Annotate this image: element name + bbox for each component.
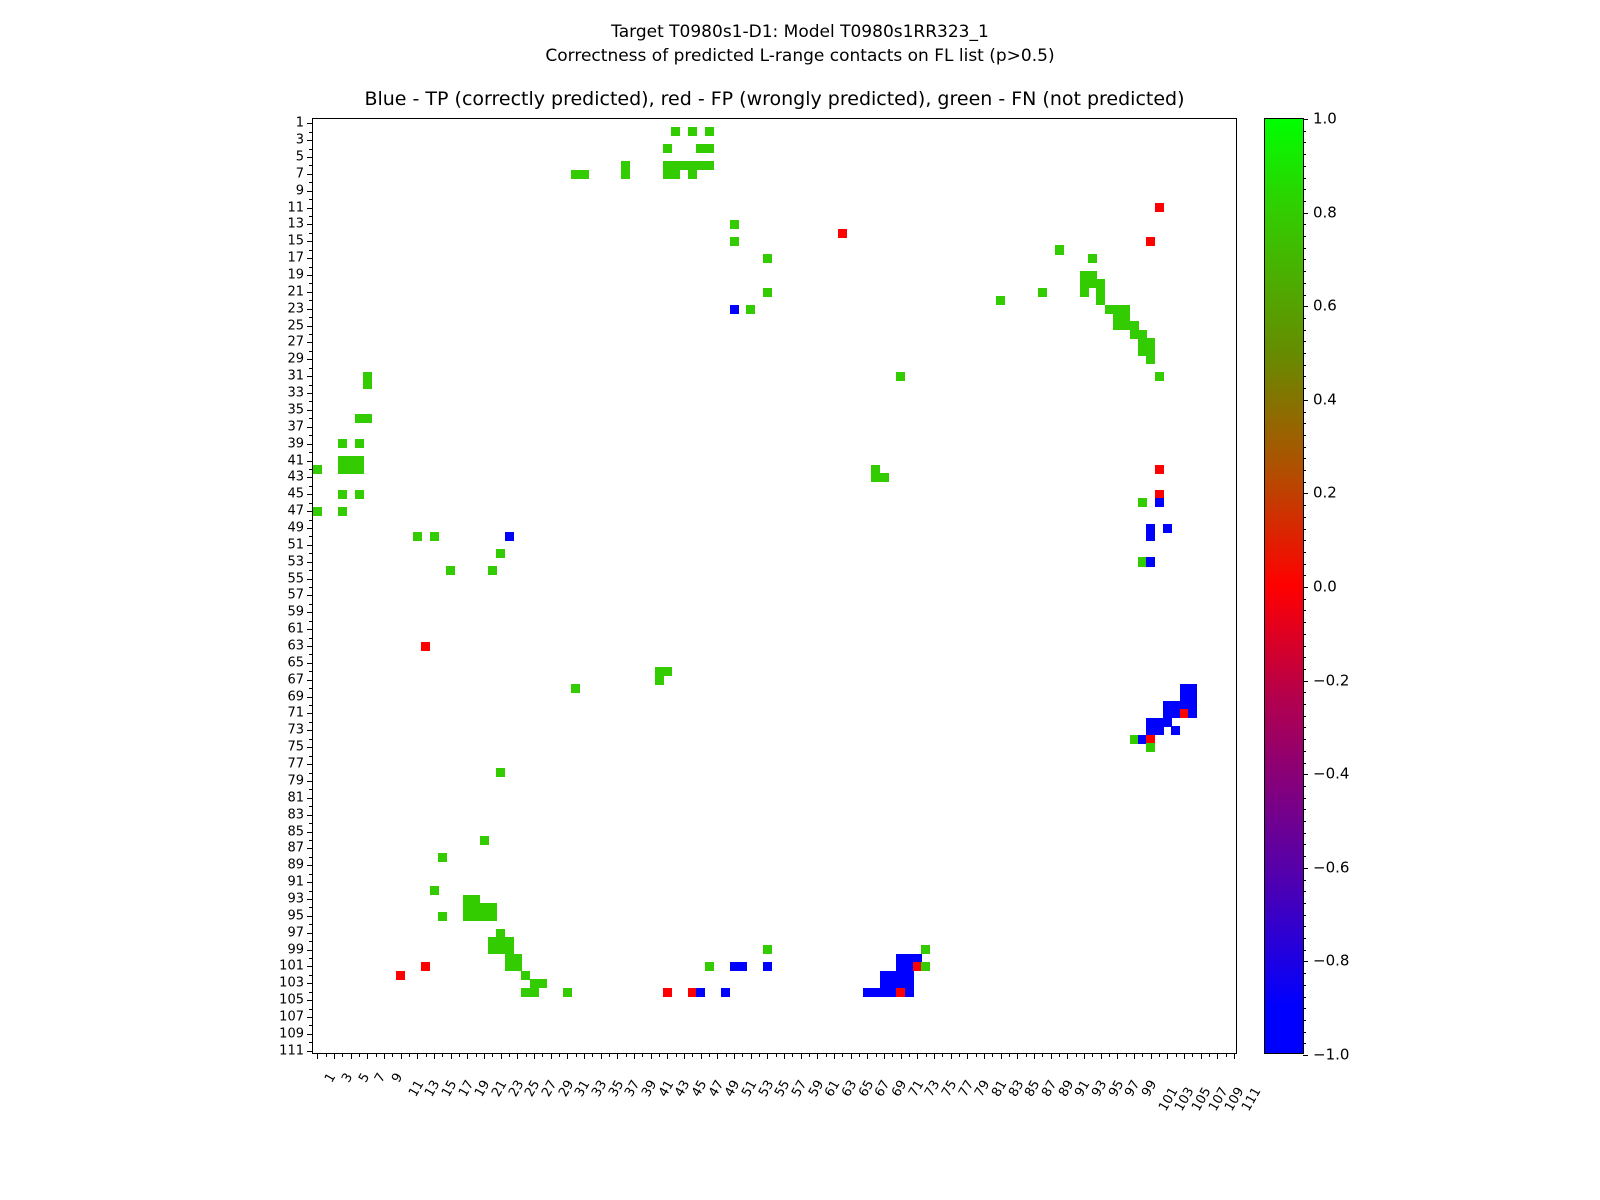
colorbar-minor-tick	[1303, 178, 1306, 179]
y-tick-label: 33	[287, 387, 304, 400]
x-tick	[1076, 1053, 1077, 1057]
y-tick	[309, 317, 313, 318]
y-tick	[307, 815, 313, 816]
contact-cell	[1155, 372, 1164, 381]
contact-cell	[921, 962, 930, 971]
x-tick	[559, 1053, 560, 1057]
x-tick	[1017, 1053, 1018, 1059]
y-tick-label: 21	[287, 285, 304, 298]
contact-cell	[1171, 726, 1180, 735]
contact-cell	[1188, 709, 1197, 718]
y-tick-label: 11	[287, 201, 304, 214]
x-tick	[467, 1053, 468, 1059]
x-tick	[967, 1053, 968, 1059]
y-tick-label: 43	[287, 471, 304, 484]
x-tick	[567, 1053, 568, 1059]
y-tick	[307, 798, 313, 799]
y-tick	[307, 983, 313, 984]
y-tick-label: 53	[287, 555, 304, 568]
y-tick	[307, 832, 313, 833]
colorbar-minor-tick	[1303, 1043, 1306, 1044]
contact-cell	[488, 912, 497, 921]
x-tick	[651, 1053, 652, 1059]
y-tick	[309, 267, 313, 268]
contact-cell	[763, 288, 772, 297]
colorbar-minor-tick	[1303, 131, 1306, 132]
x-tick	[601, 1053, 602, 1059]
x-tick	[684, 1053, 685, 1059]
x-tick	[926, 1053, 927, 1057]
colorbar-minor-tick	[1303, 470, 1306, 471]
y-tick-label: 15	[287, 235, 304, 248]
colorbar-minor-tick	[1303, 657, 1306, 658]
colorbar-minor-tick	[1303, 833, 1306, 834]
contact-cell	[1155, 465, 1164, 474]
y-tick	[309, 385, 313, 386]
x-tick	[1201, 1053, 1202, 1059]
colorbar-minor-tick	[1303, 856, 1306, 857]
contact-cell	[338, 490, 347, 499]
x-tick-label: 15	[440, 1078, 460, 1099]
x-tick	[826, 1053, 827, 1057]
y-tick-label: 83	[287, 808, 304, 821]
x-tick	[1067, 1053, 1068, 1059]
colorbar-minor-tick	[1303, 517, 1306, 518]
y-tick	[307, 730, 313, 731]
colorbar-minor-tick	[1303, 739, 1306, 740]
y-tick	[307, 950, 313, 951]
y-tick-label: 49	[287, 521, 304, 534]
y-tick	[309, 891, 313, 892]
y-tick	[307, 410, 313, 411]
y-tick-label: 5	[296, 150, 304, 163]
y-tick	[307, 1000, 313, 1001]
x-tick	[776, 1053, 777, 1057]
contact-cell	[355, 490, 364, 499]
axes-title-legend: Blue - TP (correctly predicted), red - F…	[312, 88, 1237, 110]
x-tick	[476, 1053, 477, 1057]
y-tick-label: 9	[296, 184, 304, 197]
colorbar-minor-tick	[1303, 154, 1306, 155]
x-tick	[792, 1053, 793, 1057]
colorbar-tick-label: 0.6	[1313, 299, 1337, 314]
x-tick-label: 7	[373, 1071, 388, 1085]
x-tick	[392, 1053, 393, 1057]
x-tick	[384, 1053, 385, 1059]
x-tick-label: 99	[1140, 1078, 1160, 1099]
x-tick	[934, 1053, 935, 1059]
x-tick	[501, 1053, 502, 1059]
contact-cell	[721, 988, 730, 997]
contact-cell	[496, 768, 505, 777]
x-tick	[1117, 1053, 1118, 1059]
y-tick-label: 61	[287, 623, 304, 636]
colorbar-minor-tick	[1303, 950, 1306, 951]
y-tick	[307, 1034, 313, 1035]
colorbar-minor-tick	[1303, 564, 1306, 565]
y-tick	[309, 756, 313, 757]
contact-cell	[1138, 498, 1147, 507]
contact-cell	[1155, 203, 1164, 212]
y-tick-label: 107	[279, 1011, 304, 1024]
y-tick-label: 87	[287, 842, 304, 855]
x-tick-label: 3	[340, 1071, 355, 1085]
y-tick	[307, 494, 313, 495]
x-tick	[434, 1053, 435, 1059]
colorbar-minor-tick	[1303, 142, 1306, 143]
colorbar-tick-label: −0.8	[1313, 954, 1349, 969]
contact-cell	[538, 979, 547, 988]
x-tick	[542, 1053, 543, 1057]
colorbar-minor-tick	[1303, 189, 1306, 190]
y-tick	[309, 857, 313, 858]
y-tick	[309, 503, 313, 504]
colorbar-minor-tick	[1303, 809, 1306, 810]
contact-cell	[663, 144, 672, 153]
y-tick-label: 1	[296, 117, 304, 130]
x-tick	[909, 1053, 910, 1057]
y-tick	[309, 924, 313, 925]
y-tick	[307, 933, 313, 934]
y-tick-label: 91	[287, 876, 304, 889]
colorbar-minor-tick	[1303, 447, 1306, 448]
colorbar-minor-tick	[1303, 318, 1306, 319]
contact-cell	[563, 988, 572, 997]
colorbar-minor-tick	[1303, 259, 1306, 260]
x-tick	[342, 1053, 343, 1057]
x-tick-label: 1	[323, 1071, 338, 1085]
y-tick-label: 105	[279, 994, 304, 1007]
x-tick	[1092, 1053, 1093, 1057]
x-tick	[801, 1053, 802, 1059]
x-tick	[1001, 1053, 1002, 1059]
x-tick	[842, 1053, 843, 1057]
colorbar-minor-tick	[1303, 423, 1306, 424]
y-tick	[307, 511, 313, 512]
y-tick-label: 77	[287, 758, 304, 771]
colorbar-minor-tick	[1303, 634, 1306, 635]
colorbar-minor-tick	[1303, 236, 1306, 237]
x-tick	[484, 1053, 485, 1059]
y-tick	[307, 241, 313, 242]
colorbar-minor-tick	[1303, 891, 1306, 892]
y-tick-label: 69	[287, 690, 304, 703]
x-tick	[1226, 1053, 1227, 1057]
y-tick	[309, 132, 313, 133]
x-tick	[359, 1053, 360, 1057]
x-tick	[592, 1053, 593, 1057]
contact-cell	[396, 971, 405, 980]
y-tick	[307, 224, 313, 225]
x-tick	[326, 1053, 327, 1057]
x-tick	[617, 1053, 618, 1059]
y-tick	[309, 469, 313, 470]
y-tick	[307, 292, 313, 293]
colorbar-tick-label: 0.0	[1313, 580, 1337, 595]
colorbar-minor-tick	[1303, 669, 1306, 670]
contact-cell	[1088, 254, 1097, 263]
colorbar-minor-tick	[1303, 610, 1306, 611]
contact-cell	[705, 144, 714, 153]
contact-cell	[688, 170, 697, 179]
x-tick	[1134, 1053, 1135, 1059]
y-tick	[309, 570, 313, 571]
x-tick	[351, 1053, 352, 1059]
colorbar-minor-tick	[1303, 716, 1306, 717]
y-tick	[307, 427, 313, 428]
colorbar-minor-tick	[1303, 844, 1306, 845]
y-tick	[309, 486, 313, 487]
y-tick-label: 13	[287, 218, 304, 231]
y-tick-label: 73	[287, 724, 304, 737]
colorbar-tick-label: −0.4	[1313, 767, 1349, 782]
y-tick	[307, 461, 313, 462]
x-tick	[667, 1053, 668, 1059]
x-tick	[692, 1053, 693, 1057]
x-tick-label: 9	[390, 1071, 405, 1085]
y-tick	[309, 300, 313, 301]
x-tick-label: 69	[890, 1078, 910, 1099]
y-tick	[309, 199, 313, 200]
contact-cell	[355, 439, 364, 448]
x-tick	[717, 1053, 718, 1059]
x-tick	[509, 1053, 510, 1057]
x-tick	[1101, 1053, 1102, 1059]
contact-cell	[696, 988, 705, 997]
contact-cell	[921, 945, 930, 954]
colorbar-minor-tick	[1303, 166, 1306, 167]
x-tick	[1026, 1053, 1027, 1057]
x-tick	[642, 1053, 643, 1057]
y-tick	[307, 966, 313, 967]
contact-cell	[1146, 743, 1155, 752]
x-tick	[992, 1053, 993, 1057]
colorbar-tick-label: −0.2	[1313, 673, 1349, 688]
colorbar-minor-tick	[1303, 365, 1306, 366]
y-tick-label: 75	[287, 741, 304, 754]
colorbar-minor-tick	[1303, 376, 1306, 377]
x-tick	[959, 1053, 960, 1057]
x-tick	[984, 1053, 985, 1059]
colorbar-minor-tick	[1303, 493, 1306, 494]
y-tick	[307, 545, 313, 546]
y-tick	[307, 342, 313, 343]
x-tick-label: 51	[740, 1078, 760, 1099]
x-tick	[1159, 1053, 1160, 1057]
contact-cell	[671, 127, 680, 136]
contact-map-plot-area[interactable]: 1357911131517192123252729313335373941434…	[312, 118, 1237, 1054]
y-tick-label: 7	[296, 167, 304, 180]
contact-cell	[438, 853, 447, 862]
contact-cell	[488, 566, 497, 575]
x-tick	[451, 1053, 452, 1059]
contact-cell	[1146, 237, 1155, 246]
colorbar-minor-tick	[1303, 961, 1306, 962]
contact-cell	[346, 465, 355, 474]
colorbar-minor-tick	[1303, 646, 1306, 647]
y-tick	[309, 149, 313, 150]
contact-cell	[338, 439, 347, 448]
y-tick-label: 79	[287, 774, 304, 787]
x-tick-label: 5	[357, 1071, 372, 1085]
y-tick-label: 29	[287, 353, 304, 366]
colorbar-minor-tick	[1303, 786, 1306, 787]
x-tick	[367, 1053, 368, 1059]
y-tick	[309, 401, 313, 402]
contact-cell	[705, 161, 714, 170]
x-tick	[634, 1053, 635, 1059]
contact-cell	[896, 372, 905, 381]
x-tick	[492, 1053, 493, 1057]
x-tick	[1176, 1053, 1177, 1057]
y-tick-label: 27	[287, 336, 304, 349]
colorbar-minor-tick	[1303, 248, 1306, 249]
y-tick	[309, 907, 313, 908]
colorbar-minor-tick	[1303, 774, 1306, 775]
colorbar-minor-tick	[1303, 1055, 1306, 1056]
contact-cell	[313, 507, 322, 516]
contact-cell	[621, 170, 630, 179]
x-tick-label: 33	[590, 1078, 610, 1099]
x-tick	[1059, 1053, 1060, 1057]
y-tick	[309, 233, 313, 234]
y-tick	[309, 773, 313, 774]
x-tick	[901, 1053, 902, 1059]
x-tick	[859, 1053, 860, 1057]
colorbar-minor-tick	[1303, 692, 1306, 693]
contact-cell	[746, 305, 755, 314]
x-tick	[1184, 1053, 1185, 1059]
colorbar-minor-tick	[1303, 540, 1306, 541]
y-tick-label: 89	[287, 859, 304, 872]
colorbar-minor-tick	[1303, 505, 1306, 506]
x-tick-label: 63	[840, 1078, 860, 1099]
y-tick-label: 39	[287, 437, 304, 450]
x-tick	[917, 1053, 918, 1059]
y-tick-label: 63	[287, 640, 304, 653]
y-tick-label: 41	[287, 454, 304, 467]
colorbar-minor-tick	[1303, 295, 1306, 296]
colorbar-minor-tick	[1303, 938, 1306, 939]
y-tick	[309, 553, 313, 554]
y-tick	[307, 1051, 313, 1052]
colorbar-minor-tick	[1303, 412, 1306, 413]
contact-cell	[1146, 532, 1155, 541]
colorbar-minor-tick	[1303, 763, 1306, 764]
y-tick-label: 37	[287, 420, 304, 433]
y-tick	[307, 376, 313, 377]
y-tick	[307, 747, 313, 748]
x-tick	[551, 1053, 552, 1059]
y-tick	[309, 806, 313, 807]
y-tick	[309, 823, 313, 824]
y-tick	[307, 663, 313, 664]
figure-suptitle: Target T0980s1-D1: Model T0980s1RR323_1 …	[0, 20, 1600, 68]
y-tick	[309, 621, 313, 622]
x-tick	[892, 1053, 893, 1057]
y-tick	[309, 1042, 313, 1043]
x-tick	[626, 1053, 627, 1057]
contact-cell	[738, 962, 747, 971]
x-tick-label: 45	[690, 1078, 710, 1099]
y-tick	[307, 477, 313, 478]
colorbar-tick-label: 0.8	[1313, 205, 1337, 220]
y-tick	[307, 697, 313, 698]
x-tick	[876, 1053, 877, 1057]
y-tick-label: 65	[287, 656, 304, 669]
colorbar-minor-tick	[1303, 552, 1306, 553]
x-tick	[751, 1053, 752, 1059]
y-tick	[307, 680, 313, 681]
y-tick	[307, 1017, 313, 1018]
colorbar-tick-label: −1.0	[1313, 1048, 1349, 1063]
colorbar-minor-tick	[1303, 201, 1306, 202]
colorbar-minor-tick	[1303, 704, 1306, 705]
y-tick	[309, 992, 313, 993]
y-tick	[309, 789, 313, 790]
contact-cell	[1080, 288, 1089, 297]
contact-cell	[880, 473, 889, 482]
y-tick	[309, 587, 313, 588]
contact-cell	[430, 532, 439, 541]
x-tick	[609, 1053, 610, 1057]
x-tick	[734, 1053, 735, 1059]
contact-cell	[905, 988, 914, 997]
y-tick-label: 103	[279, 977, 304, 990]
y-tick-label: 109	[279, 1027, 304, 1040]
contact-cell	[421, 962, 430, 971]
colorbar-minor-tick	[1303, 727, 1306, 728]
x-tick	[409, 1053, 410, 1057]
x-tick-label: 87	[1040, 1078, 1060, 1099]
y-tick	[309, 418, 313, 419]
y-tick	[309, 671, 313, 672]
y-tick-label: 47	[287, 505, 304, 518]
colorbar-minor-tick	[1303, 213, 1306, 214]
x-tick	[1109, 1053, 1110, 1057]
y-tick	[309, 604, 313, 605]
y-tick	[307, 140, 313, 141]
y-tick	[309, 975, 313, 976]
y-tick-label: 95	[287, 909, 304, 922]
x-tick-label: 57	[790, 1078, 810, 1099]
y-tick-label: 99	[287, 943, 304, 956]
y-tick	[307, 528, 313, 529]
x-tick	[1009, 1053, 1010, 1057]
x-tick	[584, 1053, 585, 1059]
y-tick	[307, 713, 313, 714]
y-tick	[307, 258, 313, 259]
colorbar-minor-tick	[1303, 751, 1306, 752]
colorbar-minor-tick	[1303, 997, 1306, 998]
x-tick	[1126, 1053, 1127, 1057]
x-tick	[517, 1053, 518, 1059]
colorbar-tick-label: 0.2	[1313, 486, 1337, 501]
y-tick	[307, 764, 313, 765]
colorbar-minor-tick	[1303, 622, 1306, 623]
y-tick	[309, 958, 313, 959]
colorbar-minor-tick	[1303, 400, 1306, 401]
x-tick	[676, 1053, 677, 1057]
y-tick	[309, 165, 313, 166]
contact-cell	[338, 507, 347, 516]
y-tick	[307, 174, 313, 175]
x-tick	[576, 1053, 577, 1057]
y-tick	[307, 309, 313, 310]
y-tick	[309, 452, 313, 453]
colorbar[interactable]: 1.00.80.60.40.20.0−0.2−0.4−0.6−0.8−1.0	[1264, 118, 1304, 1054]
colorbar-minor-tick	[1303, 271, 1306, 272]
